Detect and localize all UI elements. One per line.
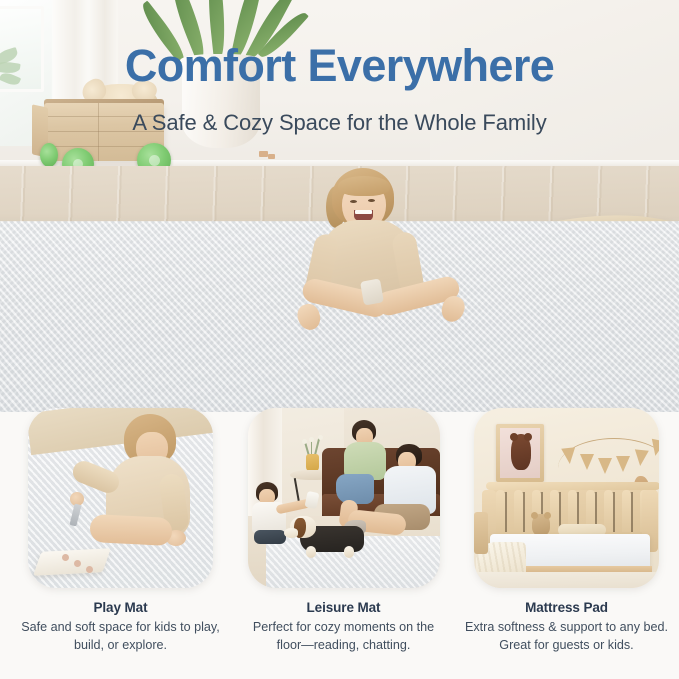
toy-block	[268, 154, 275, 159]
card-image-play-mat[interactable]	[28, 408, 213, 588]
pennant-flag	[616, 456, 630, 472]
card-description: Safe and soft space for kids to play, bu…	[18, 619, 223, 655]
pennant-flag	[598, 458, 612, 474]
eye	[350, 200, 357, 203]
pennant-flag	[633, 449, 649, 466]
toy-peg	[62, 554, 69, 561]
hair-fringe	[338, 176, 390, 196]
product-infographic: Comfort Everywhere A Safe & Cozy Space f…	[0, 0, 679, 679]
card-description: Perfect for cozy moments on the floor—re…	[240, 619, 447, 655]
jeans	[336, 474, 374, 504]
card-description: Extra softness & support to any bed. Gre…	[464, 619, 669, 655]
pennant-flag	[648, 439, 659, 458]
cart-wheel	[40, 143, 58, 167]
bed-rail	[486, 482, 659, 490]
leg	[89, 514, 172, 546]
toy-peg	[86, 566, 93, 573]
foot	[295, 301, 324, 333]
feature-card-leisure-mat[interactable]: Leisure Mat Perfect for cozy moments on …	[240, 404, 447, 655]
card-title: Play Mat	[18, 600, 223, 615]
toy-block	[259, 151, 268, 157]
feature-cards: Play Mat Safe and soft space for kids to…	[0, 404, 679, 679]
feature-card-play-mat[interactable]: Play Mat Safe and soft space for kids to…	[18, 404, 223, 655]
page-subtitle: A Safe & Cozy Space for the Whole Family	[0, 110, 679, 136]
held-toy	[360, 278, 384, 305]
toddler-figure	[296, 168, 476, 368]
side-furniture	[474, 512, 488, 554]
eye	[368, 199, 375, 202]
pounding-bench-toy	[33, 548, 111, 576]
toy-peg	[74, 560, 81, 567]
hero-scene: Comfort Everywhere A Safe & Cozy Space f…	[0, 0, 679, 412]
feature-card-mattress-pad[interactable]: Mattress Pad Extra softness & support to…	[464, 404, 669, 655]
teeth	[355, 210, 372, 214]
floor	[474, 572, 659, 588]
card-image-leisure-mat[interactable]	[248, 408, 440, 588]
card-image-mattress-pad[interactable]	[474, 408, 659, 588]
card-title: Leisure Mat	[240, 600, 447, 615]
shorts	[254, 530, 286, 544]
pennant-flag	[561, 447, 577, 464]
dog-treat	[304, 491, 319, 509]
pennant-flag	[580, 454, 594, 470]
page-title: Comfort Everywhere	[0, 42, 679, 89]
card-title: Mattress Pad	[464, 600, 669, 615]
dog-snout	[284, 528, 298, 538]
